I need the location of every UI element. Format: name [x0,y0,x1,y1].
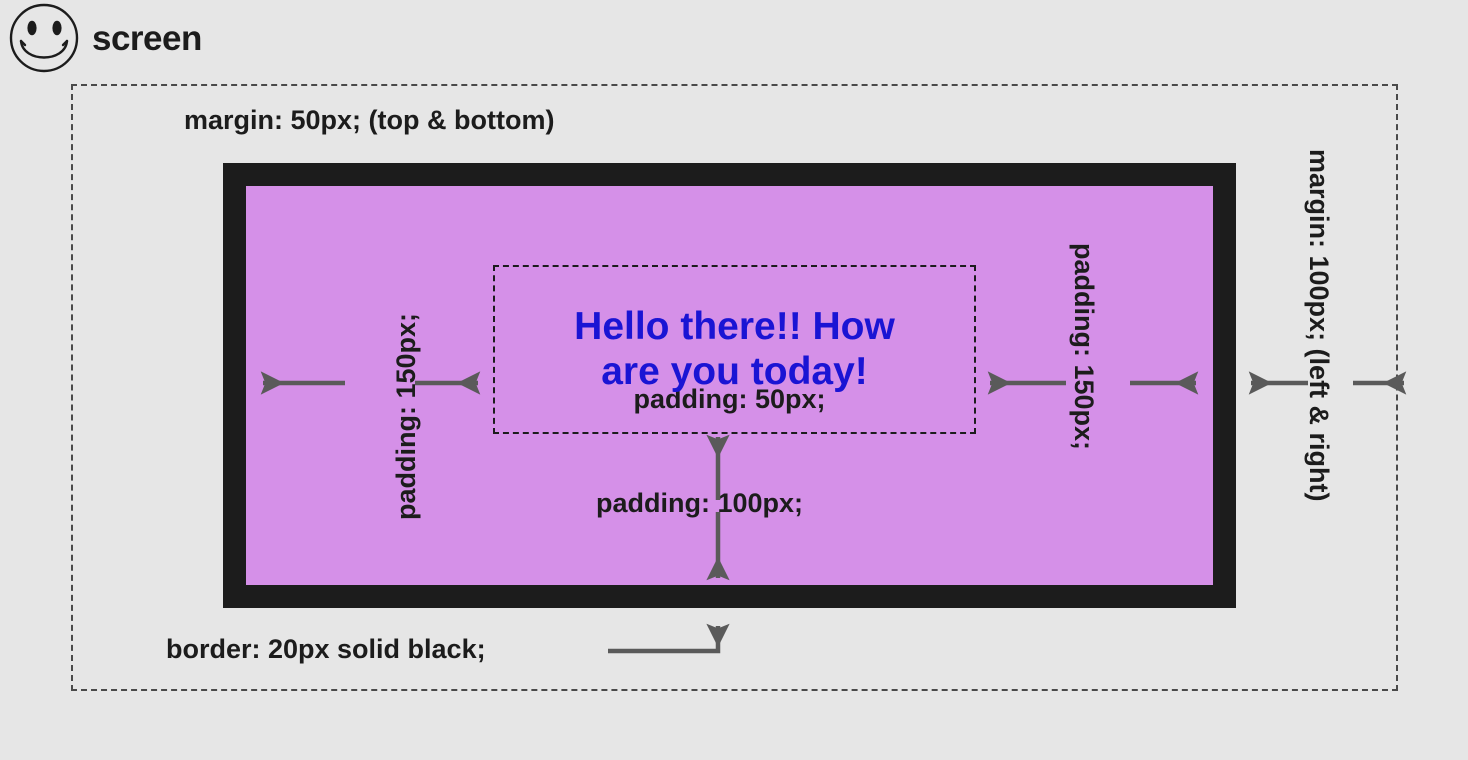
padding-left-label: padding: 150px; [391,313,422,520]
screen-title: screen [92,21,202,56]
screen-header: screen [0,0,202,76]
padding-right-label: padding: 150px; [1068,243,1099,450]
padding-bottom-label: padding: 100px; [596,488,803,519]
diagram-canvas: screen margin: 50px; (top & bottom) padd… [0,0,1468,760]
smiley-face-icon [5,3,83,73]
margin-left-right-label: margin: 100px; (left & right) [1303,149,1334,502]
margin-top-bottom-label: margin: 50px; (top & bottom) [184,105,554,136]
border-label: border: 20px solid black; [166,634,486,665]
content-box: Hello there!! How are you today! [493,265,976,434]
content-text: Hello there!! How are you today! [568,305,901,395]
